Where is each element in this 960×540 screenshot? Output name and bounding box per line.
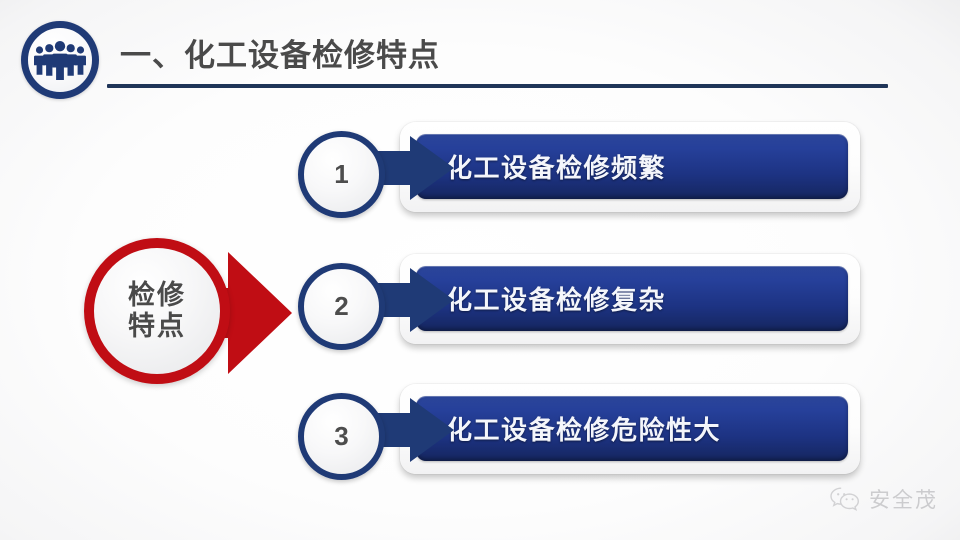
- focus-label-line-2: 特点: [128, 311, 186, 342]
- title-underline: [107, 84, 888, 88]
- item-number: 1: [334, 159, 348, 190]
- people-group-icon: [21, 21, 99, 99]
- focus-badge: 检修 特点: [84, 238, 294, 388]
- item-number-circle: 2: [298, 263, 385, 350]
- item-bar: 化工设备检修危险性大: [416, 396, 848, 461]
- list-item[interactable]: 化工设备检修复杂 2: [296, 252, 860, 348]
- wechat-icon: [829, 486, 861, 513]
- page-title: 一、化工设备检修特点: [120, 30, 440, 75]
- item-number: 2: [334, 291, 348, 322]
- watermark-text: 安全茂: [869, 484, 938, 514]
- item-shell: 化工设备检修复杂: [400, 254, 860, 344]
- item-label: 化工设备检修危险性大: [416, 410, 721, 447]
- focus-circle: 检修 特点: [84, 238, 230, 384]
- list-item[interactable]: 化工设备检修频繁 1: [296, 120, 860, 216]
- watermark: 安全茂: [829, 484, 938, 514]
- item-number-circle: 1: [298, 131, 385, 218]
- focus-label-line-1: 检修: [128, 280, 186, 311]
- slide-canvas: 一、化工设备检修特点 检修 特点 化工设备检修频繁 1 化工设备检修复杂: [0, 0, 960, 540]
- item-shell: 化工设备检修危险性大: [400, 384, 860, 474]
- item-number: 3: [334, 421, 348, 452]
- item-shell: 化工设备检修频繁: [400, 122, 860, 212]
- item-bar: 化工设备检修复杂: [416, 266, 848, 331]
- list-item[interactable]: 化工设备检修危险性大 3: [296, 382, 860, 478]
- item-number-circle: 3: [298, 393, 385, 480]
- item-bar: 化工设备检修频繁: [416, 134, 848, 199]
